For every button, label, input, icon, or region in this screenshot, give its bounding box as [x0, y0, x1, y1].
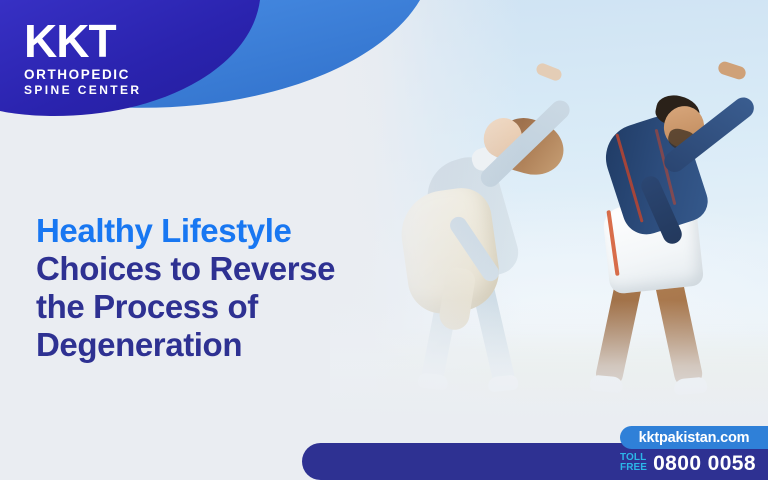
tollfree-block[interactable]: TOLL FREE 0800 0058 — [620, 450, 768, 476]
logo-subtitle-orthopedic: ORTHOPEDIC — [24, 67, 154, 83]
logo-subtitle-spine-center: SPINE CENTER — [24, 83, 154, 98]
tollfree-label: TOLL FREE — [620, 453, 647, 473]
headline-line-1: Healthy Lifestyle — [36, 212, 436, 250]
promo-banner: KKT ORTHOPEDIC SPINE CENTER Healthy Life… — [0, 0, 768, 480]
headline: Healthy Lifestyle Choices to Reverse the… — [36, 212, 436, 364]
headline-line-4: Degeneration — [36, 326, 436, 364]
tollfree-label-line2: FREE — [620, 463, 647, 473]
headline-line-2: Choices to Reverse — [36, 250, 436, 288]
logo-mark-kkt: KKT — [24, 20, 154, 62]
brand-logo: KKT ORTHOPEDIC SPINE CENTER — [24, 20, 154, 98]
headline-line-3: the Process of — [36, 288, 436, 326]
website-url: kktpakistan.com — [639, 430, 750, 446]
tollfree-number: 0800 0058 — [653, 453, 756, 474]
website-pill[interactable]: kktpakistan.com — [620, 426, 768, 449]
